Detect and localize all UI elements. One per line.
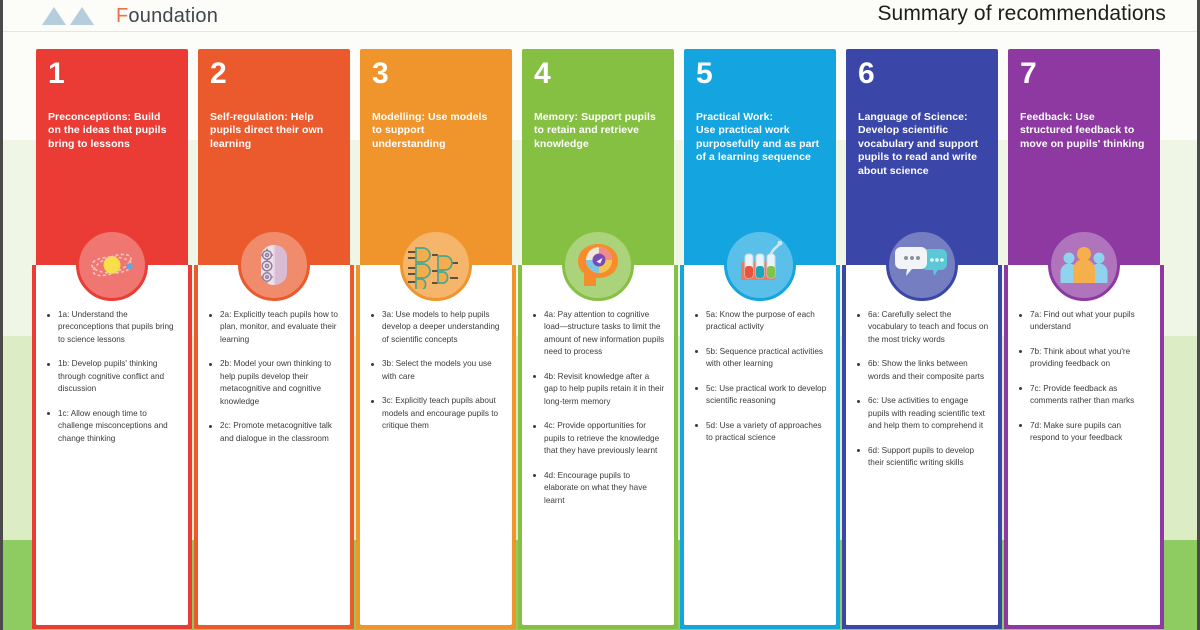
head-memory-icon — [562, 229, 634, 301]
card-body: 5a: Know the purpose of each practical a… — [684, 265, 836, 625]
card-number: 6 — [858, 59, 986, 89]
card-footer-rail — [356, 625, 516, 629]
list-item: 1c: Allow enough time to challenge misco… — [45, 408, 179, 445]
list-item: 7d: Make sure pupils can respond to your… — [1017, 420, 1151, 445]
list-item: 3b: Select the models you use with care — [369, 358, 503, 383]
card-body: 6a: Carefully select the vocabulary to t… — [846, 265, 998, 625]
card-title: Modelling: Use models to support underst… — [372, 111, 500, 151]
people-group-icon — [1048, 229, 1120, 301]
brand-name: Foundation — [116, 6, 218, 26]
card-title: Feedback: Use structured feedback to mov… — [1020, 111, 1148, 151]
list-item: 1a: Understand the preconceptions that p… — [45, 309, 179, 346]
brand-first-letter: F — [116, 5, 128, 27]
list-item: 1b: Develop pupils' thinking through cog… — [45, 358, 179, 395]
card-footer-rail — [842, 625, 1002, 629]
list-item: 2a: Explicitly teach pupils how to plan,… — [207, 309, 341, 346]
card-number: 2 — [210, 59, 338, 89]
list-item: 5d: Use a variety of approaches to pract… — [693, 420, 827, 445]
card-number: 4 — [534, 59, 662, 89]
triangles-logo-icon — [40, 5, 102, 27]
card-header: 2Self-regulation: Help pupils direct the… — [198, 49, 350, 265]
list-item: 6b: Show the links between words and the… — [855, 358, 989, 383]
card-number: 1 — [48, 59, 176, 89]
page-edge-left — [0, 0, 3, 630]
recommendation-card-4[interactable]: 4Memory: Support pupils to retain and re… — [522, 49, 674, 625]
card-footer-rail — [1004, 625, 1164, 629]
card-body: 2a: Explicitly teach pupils how to plan,… — [198, 265, 350, 625]
test-tubes-icon — [724, 229, 796, 301]
brand-rest: oundation — [128, 5, 218, 27]
recommendation-list: 2a: Explicitly teach pupils how to plan,… — [207, 309, 341, 445]
card-body: 1a: Understand the preconceptions that p… — [36, 265, 188, 625]
card-title: Preconceptions: Build on the ideas that … — [48, 111, 176, 151]
recommendation-list: 4a: Pay attention to cognitive load—stru… — [531, 309, 665, 507]
list-item: 3c: Explicitly teach pupils about models… — [369, 395, 503, 432]
card-title: Memory: Support pupils to retain and ret… — [534, 111, 662, 151]
recommendation-list: 7a: Find out what your pupils understand… — [1017, 309, 1151, 445]
list-item: 5c: Use practical work to develop scient… — [693, 383, 827, 408]
recommendation-card-3[interactable]: 3Modelling: Use models to support unders… — [360, 49, 512, 625]
recommendation-list: 1a: Understand the preconceptions that p… — [45, 309, 179, 445]
list-item: 2c: Promote metacognitive talk and dialo… — [207, 420, 341, 445]
card-footer-rail — [32, 625, 192, 629]
list-item: 4a: Pay attention to cognitive load—stru… — [531, 309, 665, 359]
card-title: Self-regulation: Help pupils direct thei… — [210, 111, 338, 151]
card-footer-rail — [194, 625, 354, 629]
card-number: 5 — [696, 59, 824, 89]
card-title: Practical Work: Use practical work purpo… — [696, 111, 824, 165]
atom-icon — [76, 229, 148, 301]
card-footer-rail — [518, 625, 678, 629]
card-number: 3 — [372, 59, 500, 89]
recommendation-list: 5a: Know the purpose of each practical a… — [693, 309, 827, 445]
list-item: 5a: Know the purpose of each practical a… — [693, 309, 827, 334]
brand-logo[interactable]: Foundation — [40, 5, 218, 27]
recommendation-cards: 1Preconceptions: Build on the ideas that… — [36, 49, 1176, 625]
list-item: 4d: Encourage pupils to elaborate on wha… — [531, 470, 665, 507]
card-header: 6Language of Science: Develop scientific… — [846, 49, 998, 265]
card-number: 7 — [1020, 59, 1148, 89]
list-item: 5b: Sequence practical activities with o… — [693, 346, 827, 371]
list-item: 4c: Provide opportunities for pupils to … — [531, 420, 665, 457]
list-item: 3a: Use models to help pupils develop a … — [369, 309, 503, 346]
card-header: 1Preconceptions: Build on the ideas that… — [36, 49, 188, 265]
card-body: 4a: Pay attention to cognitive load—stru… — [522, 265, 674, 625]
brain-gears-icon — [238, 229, 310, 301]
list-item: 6c: Use activities to engage pupils with… — [855, 395, 989, 432]
recommendation-list: 3a: Use models to help pupils develop a … — [369, 309, 503, 433]
logic-gates-icon — [400, 229, 472, 301]
speech-bubbles-icon — [886, 229, 958, 301]
card-header: 3Modelling: Use models to support unders… — [360, 49, 512, 265]
header-divider — [0, 31, 1200, 32]
card-body: 3a: Use models to help pupils develop a … — [360, 265, 512, 625]
card-header: 5Practical Work: Use practical work purp… — [684, 49, 836, 265]
recommendation-card-7[interactable]: 7Feedback: Use structured feedback to mo… — [1008, 49, 1160, 625]
card-header: 4Memory: Support pupils to retain and re… — [522, 49, 674, 265]
recommendation-card-5[interactable]: 5Practical Work: Use practical work purp… — [684, 49, 836, 625]
list-item: 7b: Think about what you're providing fe… — [1017, 346, 1151, 371]
card-header: 7Feedback: Use structured feedback to mo… — [1008, 49, 1160, 265]
list-item: 2b: Model your own thinking to help pupi… — [207, 358, 341, 408]
recommendation-list: 6a: Carefully select the vocabulary to t… — [855, 309, 989, 470]
recommendation-card-6[interactable]: 6Language of Science: Develop scientific… — [846, 49, 998, 625]
list-item: 6d: Support pupils to develop their scie… — [855, 445, 989, 470]
list-item: 7a: Find out what your pupils understand — [1017, 309, 1151, 334]
list-item: 7c: Provide feedback as comments rather … — [1017, 383, 1151, 408]
recommendation-card-1[interactable]: 1Preconceptions: Build on the ideas that… — [36, 49, 188, 625]
recommendation-card-2[interactable]: 2Self-regulation: Help pupils direct the… — [198, 49, 350, 625]
list-item: 6a: Carefully select the vocabulary to t… — [855, 309, 989, 346]
page-title: Summary of recommendations — [877, 2, 1166, 26]
list-item: 4b: Revisit knowledge after a gap to hel… — [531, 371, 665, 408]
card-title: Language of Science: Develop scientific … — [858, 111, 986, 178]
card-footer-rail — [680, 625, 840, 629]
card-body: 7a: Find out what your pupils understand… — [1008, 265, 1160, 625]
page-header: Foundation Summary of recommendations — [0, 0, 1200, 32]
